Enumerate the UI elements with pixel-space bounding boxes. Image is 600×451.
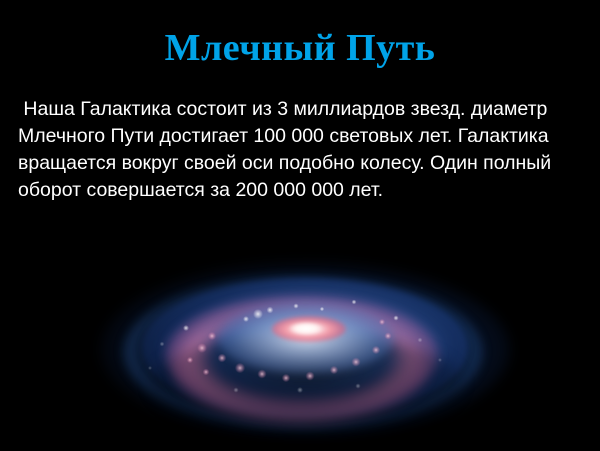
galaxy-canvas <box>90 240 520 451</box>
slide-body-text: Наша Галактика состоит из 3 миллиардов з… <box>18 96 586 204</box>
galaxy-image <box>90 240 520 451</box>
presentation-slide: Млечный Путь Наша Галактика состоит из 3… <box>0 0 600 451</box>
galaxy-star-speckles <box>90 240 520 451</box>
slide-title: Млечный Путь <box>0 26 600 70</box>
